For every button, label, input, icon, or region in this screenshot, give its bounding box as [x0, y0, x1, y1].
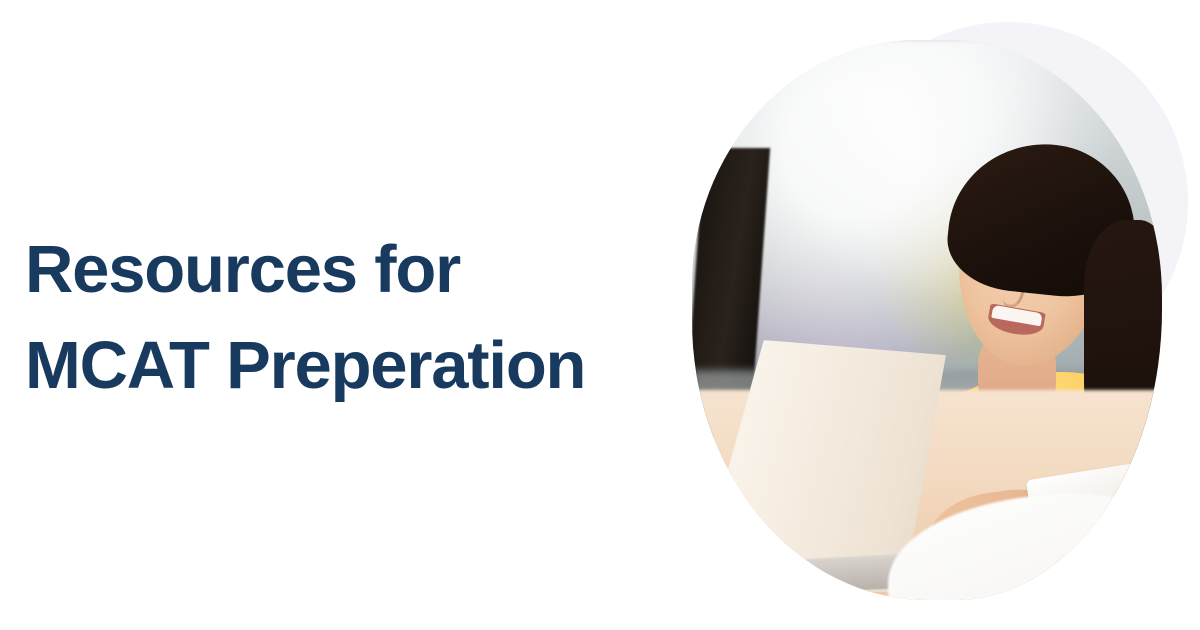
page-title: Resources for MCAT Preperation	[25, 222, 665, 414]
mcat-resources-banner: Resources for MCAT Preperation	[0, 0, 1200, 630]
hero-media	[660, 0, 1200, 630]
hero-photo	[692, 40, 1162, 600]
headline-line-2: MCAT Preperation	[25, 318, 665, 414]
headline-line-1: Resources for	[25, 222, 665, 318]
